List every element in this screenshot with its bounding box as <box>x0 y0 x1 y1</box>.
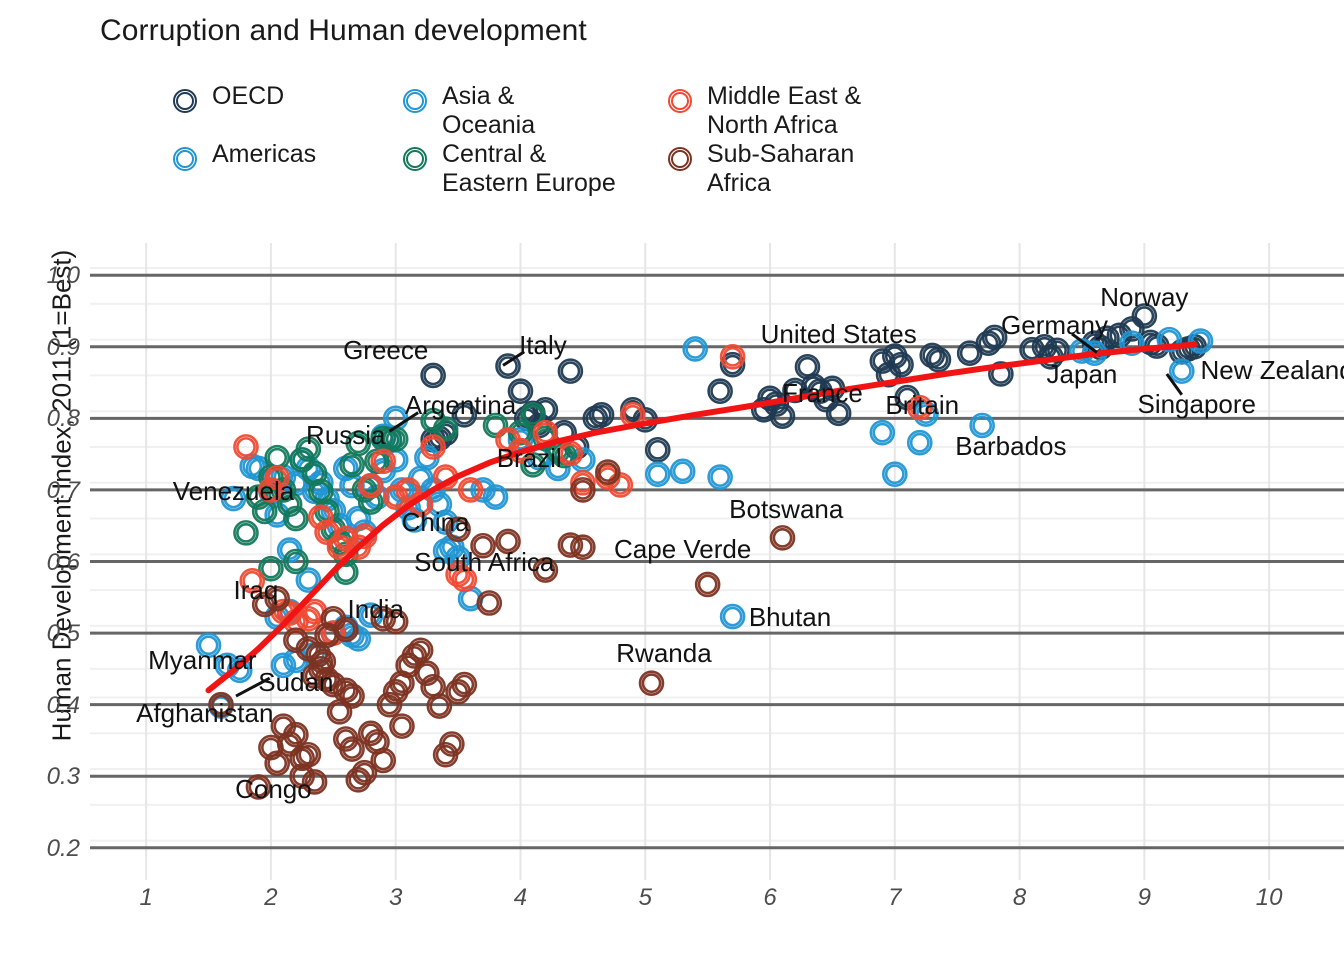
point-label-rwanda: Rwanda <box>616 640 711 666</box>
point-label-russia: Russia <box>306 422 385 448</box>
x-tick-label: 2 <box>264 884 277 912</box>
legend-item-sub-saharan-africa[interactable]: Sub-Saharan Africa <box>665 140 854 198</box>
data-point-marker-inner <box>1173 363 1190 380</box>
point-label-norway: Norway <box>1100 284 1188 310</box>
point-label-greece: Greece <box>343 337 428 363</box>
legend-item-central-eastern-europe[interactable]: Central & Eastern Europe <box>400 140 616 198</box>
x-tick-label: 7 <box>888 884 901 912</box>
point-label-italy: Italy <box>519 332 567 358</box>
data-point-marker-inner <box>911 434 928 451</box>
y-tick-label: 0.2 <box>18 835 80 863</box>
y-tick-label: 0.9 <box>18 334 80 362</box>
data-point-marker-inner <box>674 463 691 480</box>
point-label-botswana: Botswana <box>729 496 843 522</box>
point-label-myanmar: Myanmar <box>148 647 256 673</box>
x-tick-label: 8 <box>1013 884 1026 912</box>
legend-item-americas[interactable]: Americas <box>170 140 316 174</box>
plot-area: NorwayUnited StatesGermanyNew ZealandJap… <box>90 243 1344 880</box>
legend-label: Central & Eastern Europe <box>442 140 616 198</box>
data-point-marker-inner <box>799 358 816 375</box>
legend-item-oecd[interactable]: OECD <box>170 82 284 116</box>
point-label-cape-verde: Cape Verde <box>614 536 751 562</box>
legend-marker-icon <box>665 86 695 116</box>
point-label-venezuela: Venezuela <box>173 478 294 504</box>
legend-label: Sub-Saharan Africa <box>707 140 854 198</box>
point-label-barbados: Barbados <box>955 433 1066 459</box>
x-axis-tick-labels: 12345678910 <box>90 884 1344 924</box>
point-label-new-zealand: New Zealand <box>1201 357 1344 383</box>
data-point-marker-inner <box>649 466 666 483</box>
point-label-argentina: Argentina <box>405 392 516 418</box>
y-tick-label: 0.5 <box>18 620 80 648</box>
point-label-brazil: Brazil <box>497 445 562 471</box>
chart-legend: OECDAmericas Asia & OceaniaCentral & Eas… <box>170 78 930 198</box>
point-label-germany: Germany <box>1001 312 1108 338</box>
point-label-south-africa: South Africa <box>414 549 554 575</box>
data-point-marker-inner <box>462 590 479 607</box>
y-axis-tick-labels: 0.20.30.40.50.60.70.80.91.0 <box>0 243 80 880</box>
x-tick-label: 6 <box>763 884 776 912</box>
data-point-marker-inner <box>687 340 704 357</box>
data-point-marker-inner <box>774 529 791 546</box>
point-label-bhutan: Bhutan <box>749 604 831 630</box>
point-label-india: India <box>348 596 404 622</box>
point-label-japan: Japan <box>1047 361 1118 387</box>
legend-label: OECD <box>212 82 284 111</box>
legend-label: Asia & Oceania <box>442 82 535 140</box>
y-tick-label: 0.8 <box>18 405 80 433</box>
y-tick-label: 1.0 <box>18 262 80 290</box>
y-tick-label: 0.6 <box>18 549 80 577</box>
y-tick-label: 0.3 <box>18 763 80 791</box>
x-tick-label: 1 <box>139 884 152 912</box>
y-tick-label: 0.4 <box>18 692 80 720</box>
data-point-marker-inner <box>724 608 741 625</box>
x-tick-label: 5 <box>639 884 652 912</box>
x-tick-label: 10 <box>1256 884 1283 912</box>
x-tick-label: 3 <box>389 884 402 912</box>
point-label-france: France <box>782 380 863 406</box>
point-label-afghanistan: Afghanistan <box>136 700 273 726</box>
chart-title: Corruption and Human development <box>100 14 587 48</box>
data-point-marker-inner <box>375 752 392 769</box>
legend-marker-icon <box>665 144 695 174</box>
legend-label: Middle East & North Africa <box>707 82 861 140</box>
data-point-marker-inner <box>300 572 317 589</box>
y-tick-label: 0.7 <box>18 477 80 505</box>
data-point-marker-inner <box>481 594 498 611</box>
point-label-britain: Britain <box>885 392 959 418</box>
legend-item-asia-oceania[interactable]: Asia & Oceania <box>400 82 535 140</box>
legend-marker-icon <box>400 86 430 116</box>
legend-marker-icon <box>170 144 200 174</box>
data-point-marker-inner <box>237 524 254 541</box>
point-label-united-states: United States <box>761 321 917 347</box>
legend-marker-icon <box>170 86 200 116</box>
data-point-marker-inner <box>649 441 666 458</box>
data-point-marker-inner <box>874 424 891 441</box>
chart-container: Corruption and Human development OECDAme… <box>0 0 1344 960</box>
point-label-singapore: Singapore <box>1137 391 1256 417</box>
data-point-marker-inner <box>562 363 579 380</box>
data-point-marker-inner <box>712 383 729 400</box>
point-label-congo: Congo <box>235 776 312 802</box>
point-label-iraq: Iraq <box>234 577 279 603</box>
x-tick-label: 9 <box>1138 884 1151 912</box>
legend-label: Americas <box>212 140 316 169</box>
x-tick-label: 4 <box>514 884 527 912</box>
legend-item-middle-east-north-africa[interactable]: Middle East & North Africa <box>665 82 861 140</box>
point-label-sudan: Sudan <box>258 669 333 695</box>
legend-marker-icon <box>400 144 430 174</box>
point-label-china: China <box>402 509 470 535</box>
